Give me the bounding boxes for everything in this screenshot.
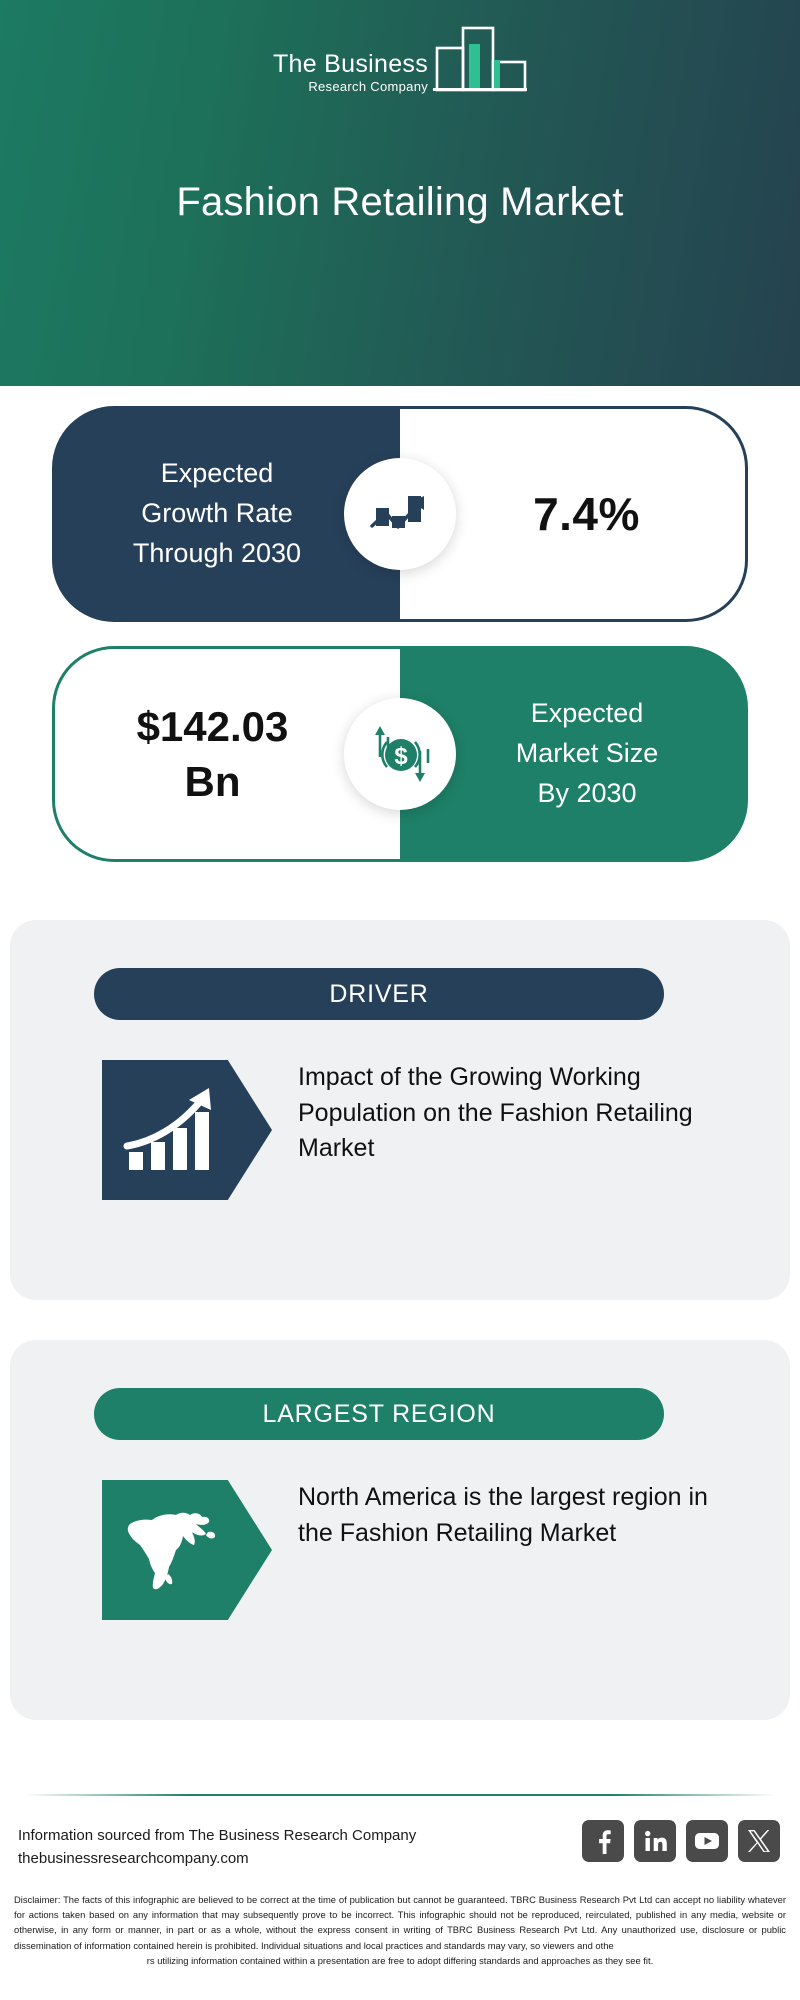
bar-chart-logo-icon: [431, 26, 527, 97]
header-banner: The Business Research Company Fashion Re…: [0, 0, 800, 386]
svg-text:$: $: [394, 743, 408, 770]
footer-divider: [24, 1794, 776, 1796]
disclaimer-text: Disclaimer: The facts of this infographi…: [14, 1892, 786, 1968]
x-twitter-icon[interactable]: [738, 1820, 780, 1862]
stat-label-line-3: Through 2030: [133, 538, 301, 568]
youtube-icon[interactable]: [686, 1820, 728, 1862]
stat-card-market-size: $142.03 Bn Expected Market Size By 2030 …: [52, 646, 748, 862]
stat-card-growth-rate: Expected Growth Rate Through 2030 7.4%: [52, 406, 748, 622]
social-links: [582, 1820, 780, 1862]
largest-region-heading-pill: LARGEST REGION: [94, 1388, 664, 1440]
source-attribution: Information sourced from The Business Re…: [18, 1824, 488, 1871]
stat-label-line-3: By 2030: [537, 778, 636, 808]
logo-text: The Business Research Company: [273, 51, 428, 98]
stat-label-line-2: Market Size: [516, 738, 659, 768]
driver-panel: DRIVER Impact of the Growing Working Pop…: [10, 920, 790, 1300]
stat-card-value: $142.03 Bn: [137, 699, 319, 810]
stat-card-label: Expected Market Size By 2030: [490, 694, 659, 814]
source-website[interactable]: thebusinessresearchcompany.com: [18, 1847, 488, 1870]
disclaimer-last-line: rs utilizing information contained withi…: [14, 1953, 786, 1968]
stat-label-line-1: Expected: [161, 458, 274, 488]
logo-line-1: The Business: [273, 51, 428, 77]
stat-value-line-1: $142.03: [137, 703, 289, 750]
dollar-cycle-icon: $: [344, 698, 456, 810]
driver-heading-pill: DRIVER: [94, 968, 664, 1020]
disclaimer-main: Disclaimer: The facts of this infographi…: [14, 1894, 786, 1951]
largest-region-panel: LARGEST REGION North America is the larg…: [10, 1340, 790, 1720]
facebook-icon[interactable]: [582, 1820, 624, 1862]
largest-region-text: North America is the largest region in t…: [298, 1480, 728, 1551]
growth-bar-chart-arrow-icon: [344, 458, 456, 570]
infographic-page: The Business Research Company Fashion Re…: [0, 0, 800, 2000]
stat-card-label: Expected Growth Rate Through 2030: [133, 454, 319, 574]
logo: The Business Research Company: [0, 26, 800, 98]
driver-text: Impact of the Growing Working Population…: [298, 1060, 728, 1167]
source-line-1: Information sourced from The Business Re…: [18, 1824, 488, 1847]
north-america-map-icon: [102, 1480, 272, 1620]
page-title: Fashion Retailing Market: [0, 180, 800, 225]
stat-label-line-1: Expected: [531, 698, 644, 728]
stat-card-value: 7.4%: [505, 487, 640, 541]
linkedin-icon[interactable]: [634, 1820, 676, 1862]
stat-value-line-2: Bn: [184, 758, 240, 805]
stat-label-line-2: Growth Rate: [141, 498, 293, 528]
logo-line-2: Research Company: [308, 79, 428, 95]
rising-bars-arrow-icon: [102, 1060, 272, 1200]
